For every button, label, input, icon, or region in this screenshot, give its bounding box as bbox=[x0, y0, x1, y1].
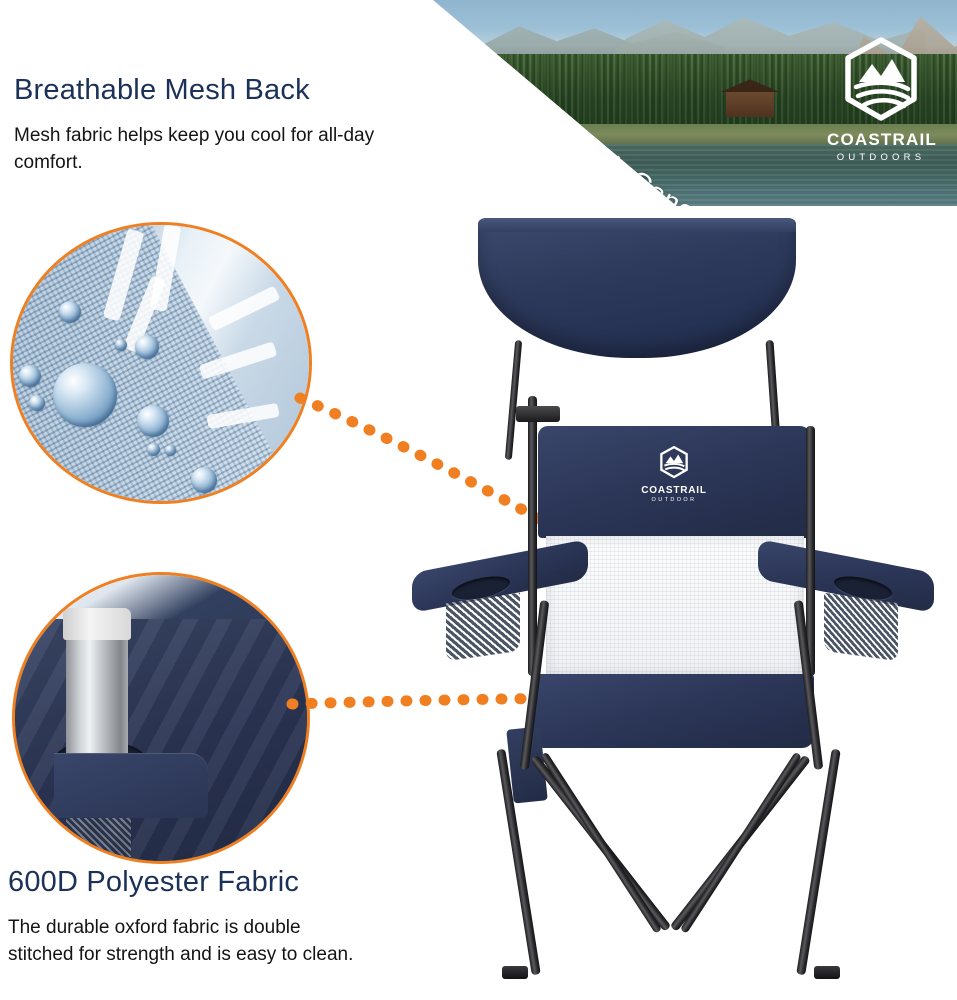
canopy-shade bbox=[478, 218, 796, 358]
water-droplet-icon bbox=[115, 339, 127, 351]
water-bottle-icon bbox=[66, 631, 128, 764]
feature-title-fabric: 600D Polyester Fabric bbox=[8, 866, 299, 899]
mesh-pocket-right bbox=[824, 593, 898, 661]
bottle-cap-icon bbox=[63, 608, 131, 640]
water-droplet-icon bbox=[53, 363, 117, 427]
chair-brand-logo: COASTRAIL OUTDOOR bbox=[628, 446, 720, 503]
brand-name: COASTRAIL bbox=[827, 130, 935, 150]
chair-foot-left bbox=[502, 966, 528, 979]
x-brace-bar bbox=[680, 752, 802, 934]
cup-holder-photo bbox=[13, 573, 309, 863]
product-folding-chair: COASTRAIL OUTDOOR bbox=[410, 200, 930, 990]
cabin-icon bbox=[726, 91, 773, 118]
chair-brand-name: COASTRAIL bbox=[628, 485, 720, 496]
x-brace-bar bbox=[540, 752, 662, 934]
feature-title-mesh: Breathable Mesh Back bbox=[14, 74, 310, 107]
water-droplet-icon bbox=[137, 405, 169, 437]
chair-leg-right bbox=[796, 749, 841, 976]
callout-mesh-fabric bbox=[10, 222, 312, 504]
water-droplet-icon bbox=[59, 301, 81, 323]
water-droplet-icon bbox=[165, 445, 176, 456]
canopy-adjust-clamp bbox=[516, 406, 560, 422]
chair-foot-right bbox=[814, 966, 840, 979]
chair-brand-tagline: OUTDOOR bbox=[628, 497, 720, 503]
canopy-pole-left bbox=[505, 340, 522, 460]
hexagon-mountain-trail-logo-icon bbox=[842, 37, 920, 123]
water-droplet-icon bbox=[135, 335, 159, 359]
canopy-hem bbox=[478, 218, 796, 232]
mesh-fabric-photo bbox=[11, 223, 311, 503]
water-droplet-icon bbox=[191, 467, 217, 493]
water-droplet-icon bbox=[19, 365, 41, 387]
feature-body-fabric: The durable oxford fabric is double stit… bbox=[8, 914, 358, 968]
hexagon-mountain-trail-logo-icon bbox=[659, 446, 689, 479]
mesh-pocket-left bbox=[446, 593, 520, 661]
brand-logo: COASTRAIL OUTDOORS bbox=[827, 37, 935, 163]
navy-oxford-fabric bbox=[13, 619, 309, 863]
airflow-arrow-icon bbox=[207, 286, 280, 332]
water-droplet-icon bbox=[147, 443, 160, 456]
seat-front-panel bbox=[532, 674, 814, 748]
callout-cup-holder bbox=[12, 572, 310, 864]
feature-body-mesh: Mesh fabric helps keep you cool for all-… bbox=[14, 122, 384, 176]
water-droplet-icon bbox=[29, 395, 45, 411]
fabric-flap bbox=[54, 753, 208, 818]
hero-banner: Folding Chair with Canopy COASTRAIL OUTD… bbox=[433, 0, 957, 206]
brand-tagline: OUTDOORS bbox=[827, 152, 935, 163]
